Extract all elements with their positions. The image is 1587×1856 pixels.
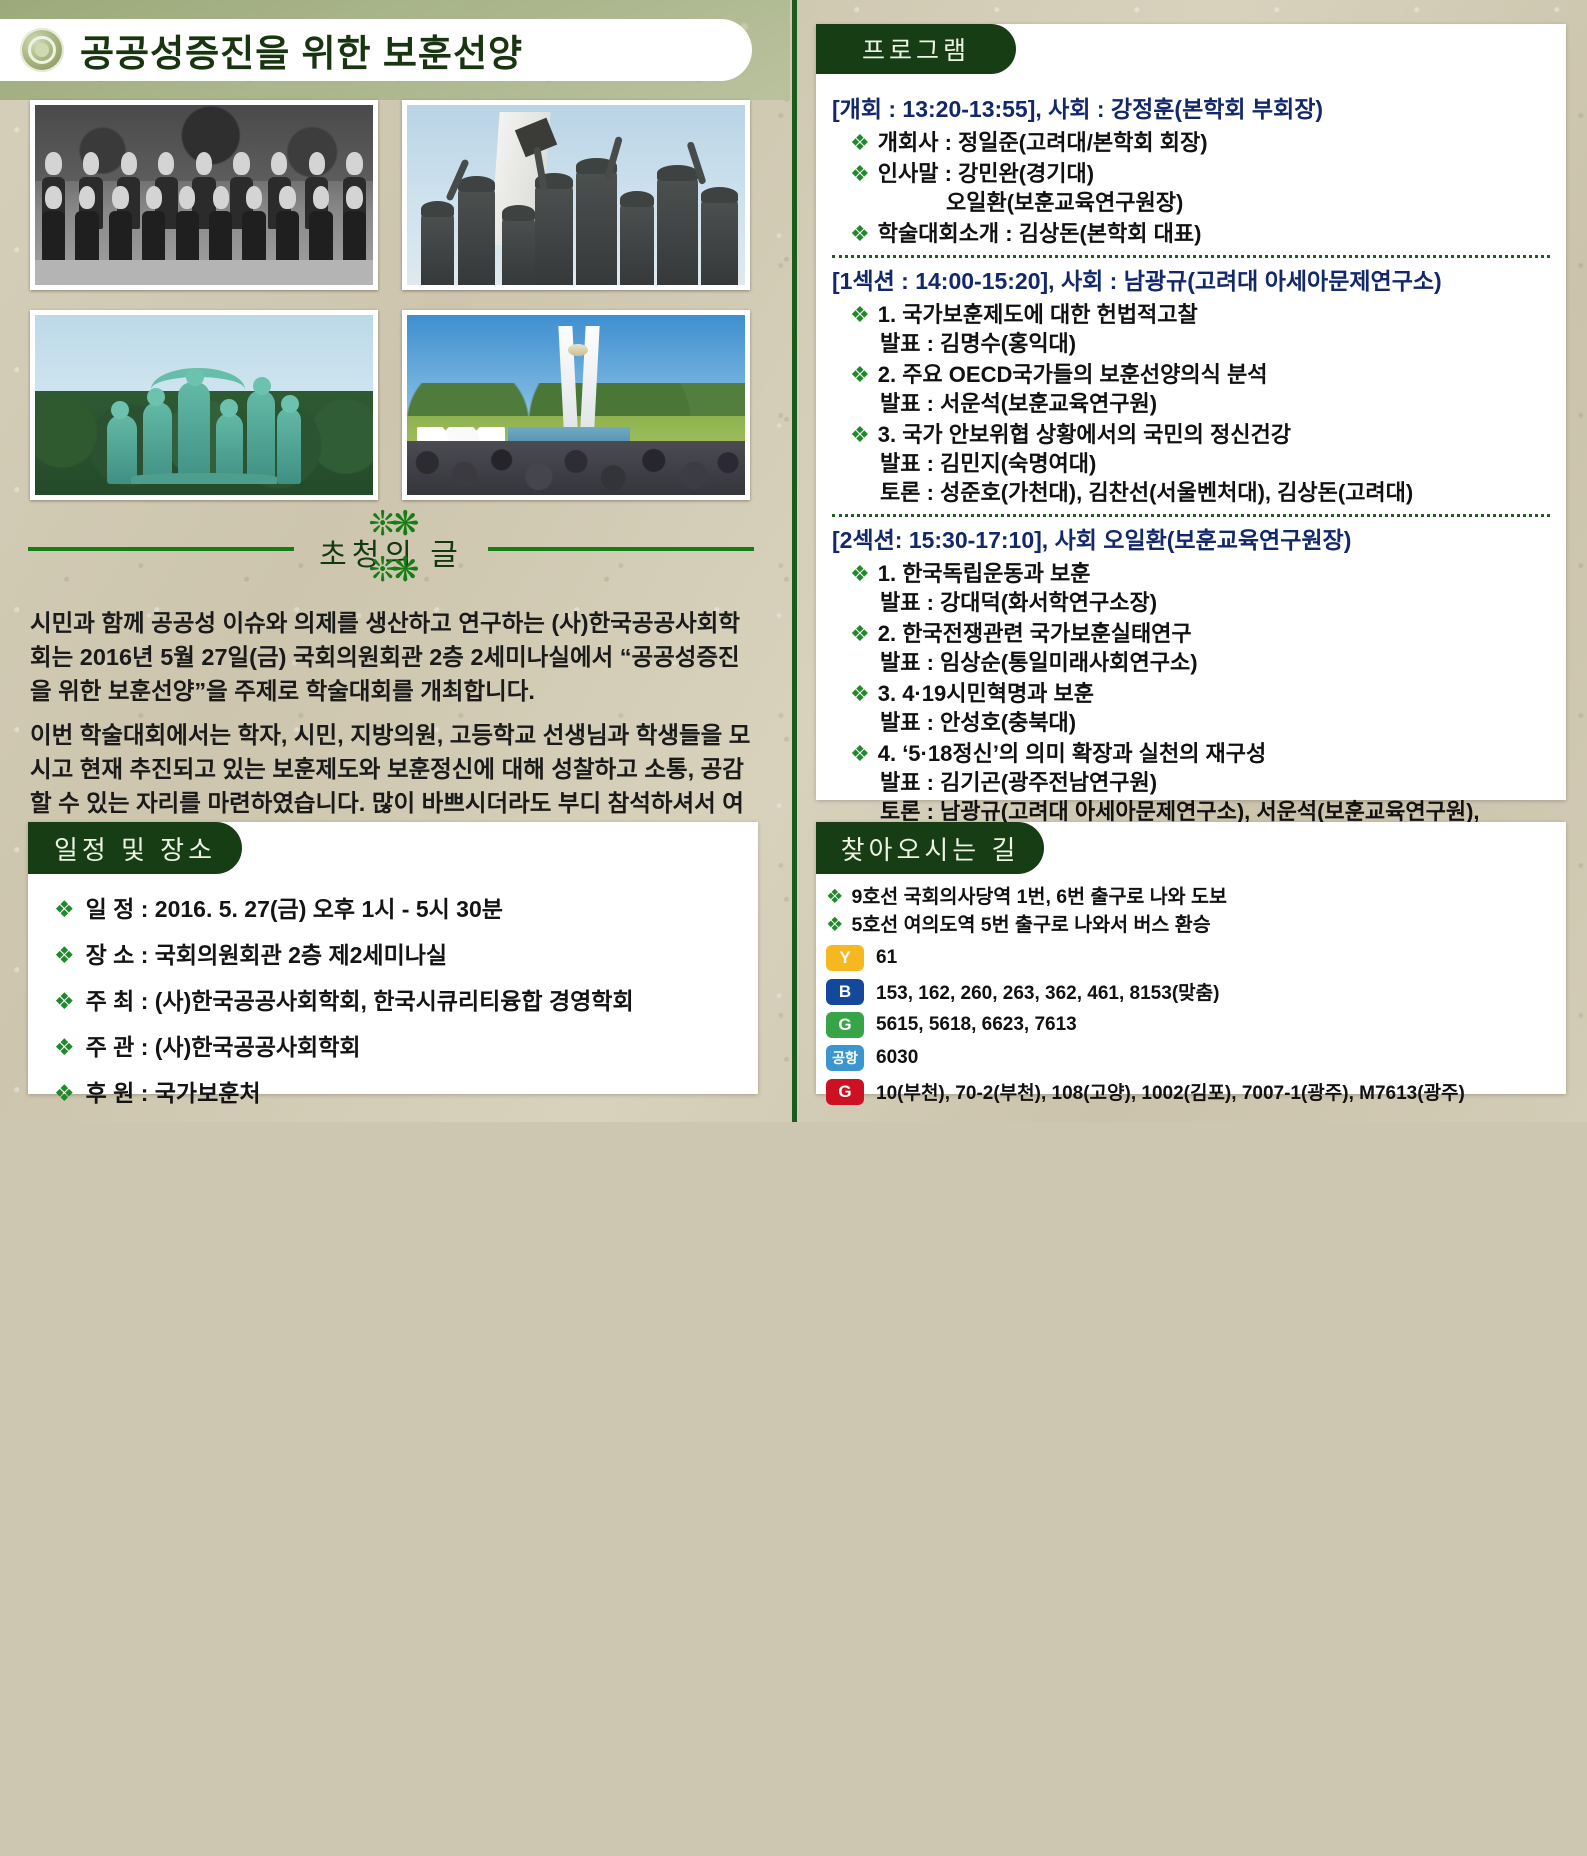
bus-routes-3: 6030 — [876, 1047, 918, 1069]
bus-row: Y 61 — [826, 945, 1252, 971]
program-item-subline: 오일환(보훈교육연구원장) — [850, 188, 1552, 217]
bus-badge-blue: B — [826, 979, 864, 1005]
bullet-diamond-icon: ❖ — [54, 1078, 75, 1108]
list-item: ❖주 최 : (사)한국공공사회학회, 한국시큐리티융합 경영학회 — [54, 986, 758, 1016]
list-item: ❖인사말 : 강민완(경기대) 오일환(보훈교육연구원장) — [850, 159, 1552, 217]
schedule-item-1: 장 소 : 국회의원회관 2층 제2세미나실 — [86, 940, 447, 970]
schedule-item-4: 후 원 : 국가보훈처 — [86, 1078, 261, 1108]
list-item: ❖주 관 : (사)한국공공사회학회 — [54, 1032, 758, 1062]
schedule-tab: 일정 및 장소 — [28, 822, 242, 874]
list-item: ❖2. 한국전쟁관련 국가보훈실태연구 발표 : 임상순(통일미래사회연구소) — [850, 619, 1552, 677]
bullet-diamond-icon: ❖ — [54, 1032, 75, 1062]
bullet-diamond-icon: ❖ — [850, 679, 870, 708]
list-item: ❖후 원 : 국가보훈처 — [54, 1078, 758, 1108]
bullet-diamond-icon: ❖ — [850, 739, 870, 768]
bullet-diamond-icon: ❖ — [850, 360, 870, 389]
photo-gallery — [30, 100, 752, 500]
subway-line-0-text: 9호선 국회의사당역 1번, 6번 출구로 나와 도보 — [851, 884, 1226, 910]
bus-row: G 5615, 5618, 6623, 7613 — [826, 1012, 1252, 1038]
schedule-item-0: 일 정 : 2016. 5. 27(금) 오후 1시 - 5시 30분 — [86, 894, 503, 924]
bullet-diamond-icon: ❖ — [826, 912, 843, 938]
directions-card: 찾아오시는 길 ❖ 9호선 국회의사당역 1번, 6번 출구로 나와 도보 ❖ … — [816, 822, 1566, 1094]
program-section-heading-0: [개회 : 13:20-13:55], 사회 : 강정훈(본학회 부회장) — [832, 94, 1552, 124]
bullet-diamond-icon: ❖ — [54, 894, 75, 924]
seal-emblem-icon — [20, 28, 64, 72]
bullet-diamond-icon: ❖ — [850, 300, 870, 329]
program-item-subline: 발표 : 김민지(숙명여대) — [850, 449, 1552, 478]
independence-movement-bronze-statue — [30, 310, 378, 500]
section-divider — [832, 514, 1550, 517]
list-item: ❖2. 주요 OECD국가들의 보훈선양의식 분석 발표 : 서운석(보훈교육연… — [850, 360, 1552, 418]
program-item-label: 2. 한국전쟁관련 국가보훈실태연구 — [878, 619, 1192, 648]
historic-group-photo — [30, 100, 378, 290]
column-divider — [792, 0, 797, 1122]
program-section-items-1: ❖1. 국가보훈제도에 대한 헌법적고찰 발표 : 김명수(홍익대) ❖2. 주… — [830, 300, 1552, 507]
schedule-card: 일정 및 장소 ❖일 정 : 2016. 5. 27(금) 오후 1시 - 5시… — [28, 822, 758, 1094]
program-item-subline: 발표 : 김명수(홍익대) — [850, 329, 1552, 358]
bus-row: G 10(부천), 70-2(부천), 108(고양), 1002(김포), 7… — [826, 1078, 1252, 1105]
bus-row: B 153, 162, 260, 263, 362, 461, 8153(맞춤) — [826, 978, 1252, 1005]
program-tab-label: 프로그램 — [862, 31, 970, 67]
schedule-tab-label: 일정 및 장소 — [54, 830, 216, 867]
page-title-bar: 공공성증진을 위한 보훈선양 — [0, 19, 752, 81]
list-item: ❖학술대회소개 : 김상돈(본학회 대표) — [850, 219, 1552, 248]
bullet-diamond-icon: ❖ — [850, 219, 870, 248]
bus-badge-airport: 공항 — [826, 1045, 864, 1071]
program-item-label: 4. ‘5·18정신’의 의미 확장과 실천의 재구성 — [878, 739, 1267, 768]
program-tab: 프로그램 — [816, 24, 1016, 74]
subway-line-1-text: 5호선 여의도역 5번 출구로 나와서 버스 환승 — [851, 912, 1210, 938]
program-body: [개회 : 13:20-13:55], 사회 : 강정훈(본학회 부회장) ❖개… — [816, 84, 1566, 932]
bus-routes-2: 5615, 5618, 6623, 7613 — [876, 1014, 1077, 1036]
bus-badge-green: G — [826, 1012, 864, 1038]
bus-routes-0: 61 — [876, 947, 897, 969]
program-item-label: 1. 한국독립운동과 보훈 — [878, 559, 1091, 588]
war-memorial-soldiers-statue — [402, 100, 750, 290]
program-item-label: 개회사 : 정일준(고려대/본학회 회장) — [878, 128, 1208, 157]
subway-line-0: ❖ 9호선 국회의사당역 1번, 6번 출구로 나와 도보 — [826, 884, 1252, 910]
section-divider — [832, 255, 1550, 258]
program-item-subline: 발표 : 강대덕(화서학연구소장) — [850, 588, 1552, 617]
bullet-diamond-icon: ❖ — [850, 128, 870, 157]
list-item: ❖1. 국가보훈제도에 대한 헌법적고찰 발표 : 김명수(홍익대) — [850, 300, 1552, 358]
schedule-item-2: 주 최 : (사)한국공공사회학회, 한국시큐리티융합 경영학회 — [86, 986, 634, 1016]
page-title: 공공성증진을 위한 보훈선양 — [80, 23, 523, 77]
program-item-label: 인사말 : 강민완(경기대) — [878, 159, 1094, 188]
bullet-diamond-icon: ❖ — [54, 940, 75, 970]
rule-right — [488, 547, 754, 551]
invitation-heading: ❊❋ 초청의 글 ❊❋ — [28, 512, 754, 582]
bullet-diamond-icon: ❖ — [850, 159, 870, 188]
program-item-label: 3. 국가 안보위협 상황에서의 국민의 정신건강 — [878, 420, 1291, 449]
program-item-subline: 발표 : 김기곤(광주전남연구원) — [850, 768, 1552, 797]
bullet-diamond-icon: ❖ — [850, 619, 870, 648]
schedule-item-3: 주 관 : (사)한국공공사회학회 — [86, 1032, 361, 1062]
program-section-items-0: ❖개회사 : 정일준(고려대/본학회 회장) ❖인사말 : 강민완(경기대) 오… — [830, 128, 1552, 248]
bullet-diamond-icon: ❖ — [54, 986, 75, 1016]
subway-line-1: ❖ 5호선 여의도역 5번 출구로 나와서 버스 환승 — [826, 912, 1252, 938]
program-item-label: 1. 국가보훈제도에 대한 헌법적고찰 — [878, 300, 1198, 329]
program-item-label: 학술대회소개 : 김상돈(본학회 대표) — [878, 219, 1202, 248]
bus-routes-1: 153, 162, 260, 263, 362, 461, 8153(맞춤) — [876, 978, 1219, 1005]
memorial-tower-ceremony-crowd — [402, 310, 750, 500]
program-item-subline: 발표 : 임상순(통일미래사회연구소) — [850, 648, 1552, 677]
program-item-subline: 토론 : 성준호(가천대), 김찬선(서울벤처대), 김상돈(고려대) — [850, 478, 1552, 507]
ornament-bottom-icon: ❊❋ — [369, 560, 414, 580]
list-item: ❖3. 국가 안보위협 상황에서의 국민의 정신건강 발표 : 김민지(숙명여대… — [850, 420, 1552, 507]
bus-badge-red: G — [826, 1079, 864, 1105]
directions-body: ❖ 9호선 국회의사당역 1번, 6번 출구로 나와 도보 ❖ 5호선 여의도역… — [816, 884, 1252, 1105]
bus-row: 공항 6030 — [826, 1045, 1252, 1071]
list-item: ❖3. 4·19시민혁명과 보훈 발표 : 안성호(충북대) — [850, 679, 1552, 737]
rule-left — [28, 547, 294, 551]
list-item: ❖일 정 : 2016. 5. 27(금) 오후 1시 - 5시 30분 — [54, 894, 758, 924]
list-item: ❖장 소 : 국회의원회관 2층 제2세미나실 — [54, 940, 758, 970]
schedule-list: ❖일 정 : 2016. 5. 27(금) 오후 1시 - 5시 30분 ❖장 … — [28, 880, 758, 1108]
program-item-label: 2. 주요 OECD국가들의 보훈선양의식 분석 — [878, 360, 1268, 389]
list-item: ❖개회사 : 정일준(고려대/본학회 회장) — [850, 128, 1552, 157]
poster-root: 공공성증진을 위한 보훈선양 — [0, 0, 1587, 1122]
bullet-diamond-icon: ❖ — [826, 884, 843, 910]
invitation-paragraph-1: 시민과 함께 공공성 이슈와 의제를 생산하고 연구하는 (사)한국공공사회학회… — [30, 606, 760, 708]
program-item-label: 3. 4·19시민혁명과 보훈 — [878, 679, 1094, 708]
program-card: 프로그램 [개회 : 13:20-13:55], 사회 : 강정훈(본학회 부회… — [816, 24, 1566, 800]
bullet-diamond-icon: ❖ — [850, 420, 870, 449]
bus-routes-4: 10(부천), 70-2(부천), 108(고양), 1002(김포), 700… — [876, 1078, 1465, 1105]
program-item-subline: 발표 : 서운석(보훈교육연구원) — [850, 389, 1552, 418]
bus-badge-yellow: Y — [826, 945, 864, 971]
directions-tab: 찾아오시는 길 — [816, 822, 1044, 874]
program-section-heading-2: [2섹션: 15:30-17:10], 사회 오일환(보훈교육연구원장) — [832, 525, 1552, 555]
bullet-diamond-icon: ❖ — [850, 559, 870, 588]
program-section-heading-1: [1섹션 : 14:00-15:20], 사회 : 남광규(고려대 아세아문제연… — [832, 266, 1552, 296]
directions-tab-label: 찾아오시는 길 — [841, 830, 1020, 867]
list-item: ❖1. 한국독립운동과 보훈 발표 : 강대덕(화서학연구소장) — [850, 559, 1552, 617]
program-item-subline: 발표 : 안성호(충북대) — [850, 708, 1552, 737]
